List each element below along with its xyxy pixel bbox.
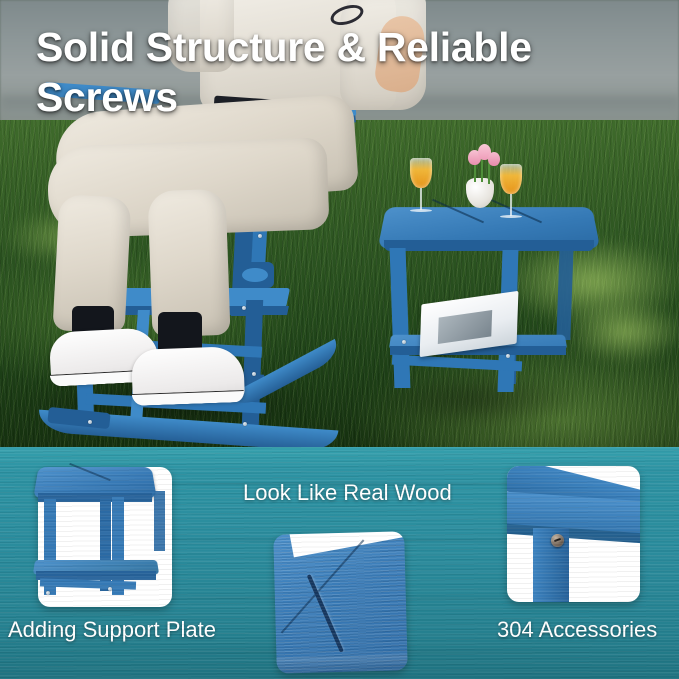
chair-cup-holder-rim xyxy=(242,268,268,282)
tulip-bloom xyxy=(488,152,500,166)
product-feature-poster: Solid Structure & Reliable Screws xyxy=(0,0,679,679)
side-table xyxy=(382,182,612,412)
chair-screw xyxy=(242,306,246,310)
juice-glass-left-stem xyxy=(420,188,422,210)
screw-slot xyxy=(554,538,561,542)
juice-glass-right-bowl xyxy=(500,164,522,194)
mini-table-leg xyxy=(154,491,165,551)
tulip-stem xyxy=(488,162,490,184)
chair-screw xyxy=(258,234,262,238)
table-leg-front-left xyxy=(390,248,411,388)
stainless-screw-icon xyxy=(551,534,564,547)
feature-label-real-wood: Look Like Real Wood xyxy=(243,480,452,506)
feature-card-real-wood xyxy=(273,531,408,673)
page-title: Solid Structure & Reliable Screws xyxy=(36,22,636,122)
juice-glass-right-stem xyxy=(510,194,512,216)
juice-glass-right-foot xyxy=(500,215,522,218)
chair-screw xyxy=(88,420,92,424)
lifestyle-photo: Solid Structure & Reliable Screws xyxy=(0,0,679,447)
table-leg-back-right xyxy=(556,244,573,340)
wood-groove-line xyxy=(307,574,344,653)
wood-bottom-edge xyxy=(276,654,407,673)
mini-table-screw xyxy=(46,591,50,595)
feature-label-accessories: 304 Accessories xyxy=(497,617,657,643)
table-screw xyxy=(402,340,406,344)
juice-glass-left-foot xyxy=(410,209,432,212)
wood-card-corner-highlight xyxy=(288,531,407,557)
chair-screw xyxy=(243,422,247,426)
feature-card-accessories xyxy=(507,466,640,602)
chair-screw xyxy=(252,372,256,376)
juice-glass-left-bowl xyxy=(410,158,432,188)
feature-label-support-plate: Adding Support Plate xyxy=(8,617,216,643)
table-screw xyxy=(506,354,510,358)
mini-table-screw xyxy=(108,587,112,591)
feature-panel: Adding Support Plate Look Like Real Wood xyxy=(0,447,679,679)
